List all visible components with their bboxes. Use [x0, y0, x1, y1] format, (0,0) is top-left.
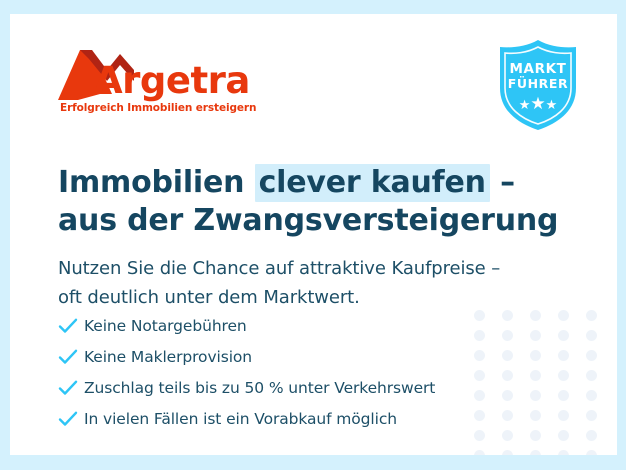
decor-dot — [502, 450, 513, 456]
decor-dot — [530, 370, 541, 381]
check-icon — [58, 411, 84, 427]
promo-card: Argetra Erfolgreich Immobilien ersteiger… — [10, 14, 617, 455]
headline-line-2: aus der Zwangsversteigerung — [58, 202, 558, 240]
brand-logo[interactable]: Argetra Erfolgreich Immobilien ersteiger… — [58, 48, 258, 126]
list-item: Keine Maklerprovision — [58, 341, 435, 372]
list-item-label: In vielen Fällen ist ein Vorabkauf mögli… — [84, 410, 397, 428]
decor-dot — [558, 310, 569, 321]
decor-dot — [558, 430, 569, 441]
decor-dot — [474, 430, 485, 441]
headline-line-1: Immobilien clever kaufen – — [58, 164, 558, 202]
list-item-label: Zuschlag teils bis zu 50 % unter Verkehr… — [84, 379, 435, 397]
decor-dot — [530, 410, 541, 421]
check-icon — [58, 318, 84, 334]
decor-dot — [586, 410, 597, 421]
list-item-label: Keine Maklerprovision — [84, 348, 252, 366]
decor-dot — [474, 350, 485, 361]
decor-dot — [586, 430, 597, 441]
decor-dot — [586, 370, 597, 381]
headline-text-after: – — [490, 165, 515, 200]
shield-badge-icon — [495, 38, 581, 132]
decor-dot — [502, 330, 513, 341]
decor-dot — [474, 390, 485, 401]
brand-wordmark: Argetra — [94, 62, 250, 99]
market-leader-badge: MARKT FÜHRER ★★★ — [495, 38, 581, 132]
decor-dot — [530, 350, 541, 361]
decor-dot — [586, 450, 597, 456]
decor-dot — [474, 450, 485, 456]
decor-dot — [502, 410, 513, 421]
decor-dot — [586, 350, 597, 361]
list-item-label: Keine Notargebühren — [84, 317, 247, 335]
brand-tagline: Erfolgreich Immobilien ersteigern — [60, 102, 256, 114]
decor-dot — [502, 310, 513, 321]
decor-dot — [558, 350, 569, 361]
subheading: Nutzen Sie die Chance auf attraktive Kau… — [58, 254, 500, 312]
decor-dot — [558, 410, 569, 421]
subheading-line-1: Nutzen Sie die Chance auf attraktive Kau… — [58, 254, 500, 283]
check-icon — [58, 349, 84, 365]
list-item: Keine Notargebühren — [58, 310, 435, 341]
list-item: In vielen Fällen ist ein Vorabkauf mögli… — [58, 403, 435, 434]
decor-dot — [474, 330, 485, 341]
decor-dot — [474, 410, 485, 421]
decor-dot — [558, 330, 569, 341]
decor-dot — [586, 330, 597, 341]
decor-dot — [586, 390, 597, 401]
decor-dot — [558, 450, 569, 456]
decor-dot — [502, 350, 513, 361]
decorative-dot-grid — [465, 305, 605, 455]
decor-dot — [474, 370, 485, 381]
decor-dot — [502, 430, 513, 441]
check-icon — [58, 380, 84, 396]
decor-dot — [558, 370, 569, 381]
decor-dot — [558, 390, 569, 401]
page-frame: Argetra Erfolgreich Immobilien ersteiger… — [0, 0, 626, 470]
headline-text-before: Immobilien — [58, 165, 255, 200]
decor-dot — [530, 310, 541, 321]
decor-dot — [530, 390, 541, 401]
decor-dot — [530, 330, 541, 341]
page-title: Immobilien clever kaufen – aus der Zwang… — [58, 164, 558, 240]
benefit-list: Keine Notargebühren Keine Maklerprovisio… — [58, 310, 435, 434]
list-item: Zuschlag teils bis zu 50 % unter Verkehr… — [58, 372, 435, 403]
decor-dot — [586, 310, 597, 321]
headline-highlight: clever kaufen — [255, 164, 490, 202]
decor-dot — [530, 430, 541, 441]
decor-dot — [502, 370, 513, 381]
subheading-line-2: oft deutlich unter dem Marktwert. — [58, 283, 500, 312]
decor-dot — [502, 390, 513, 401]
decor-dot — [530, 450, 541, 456]
